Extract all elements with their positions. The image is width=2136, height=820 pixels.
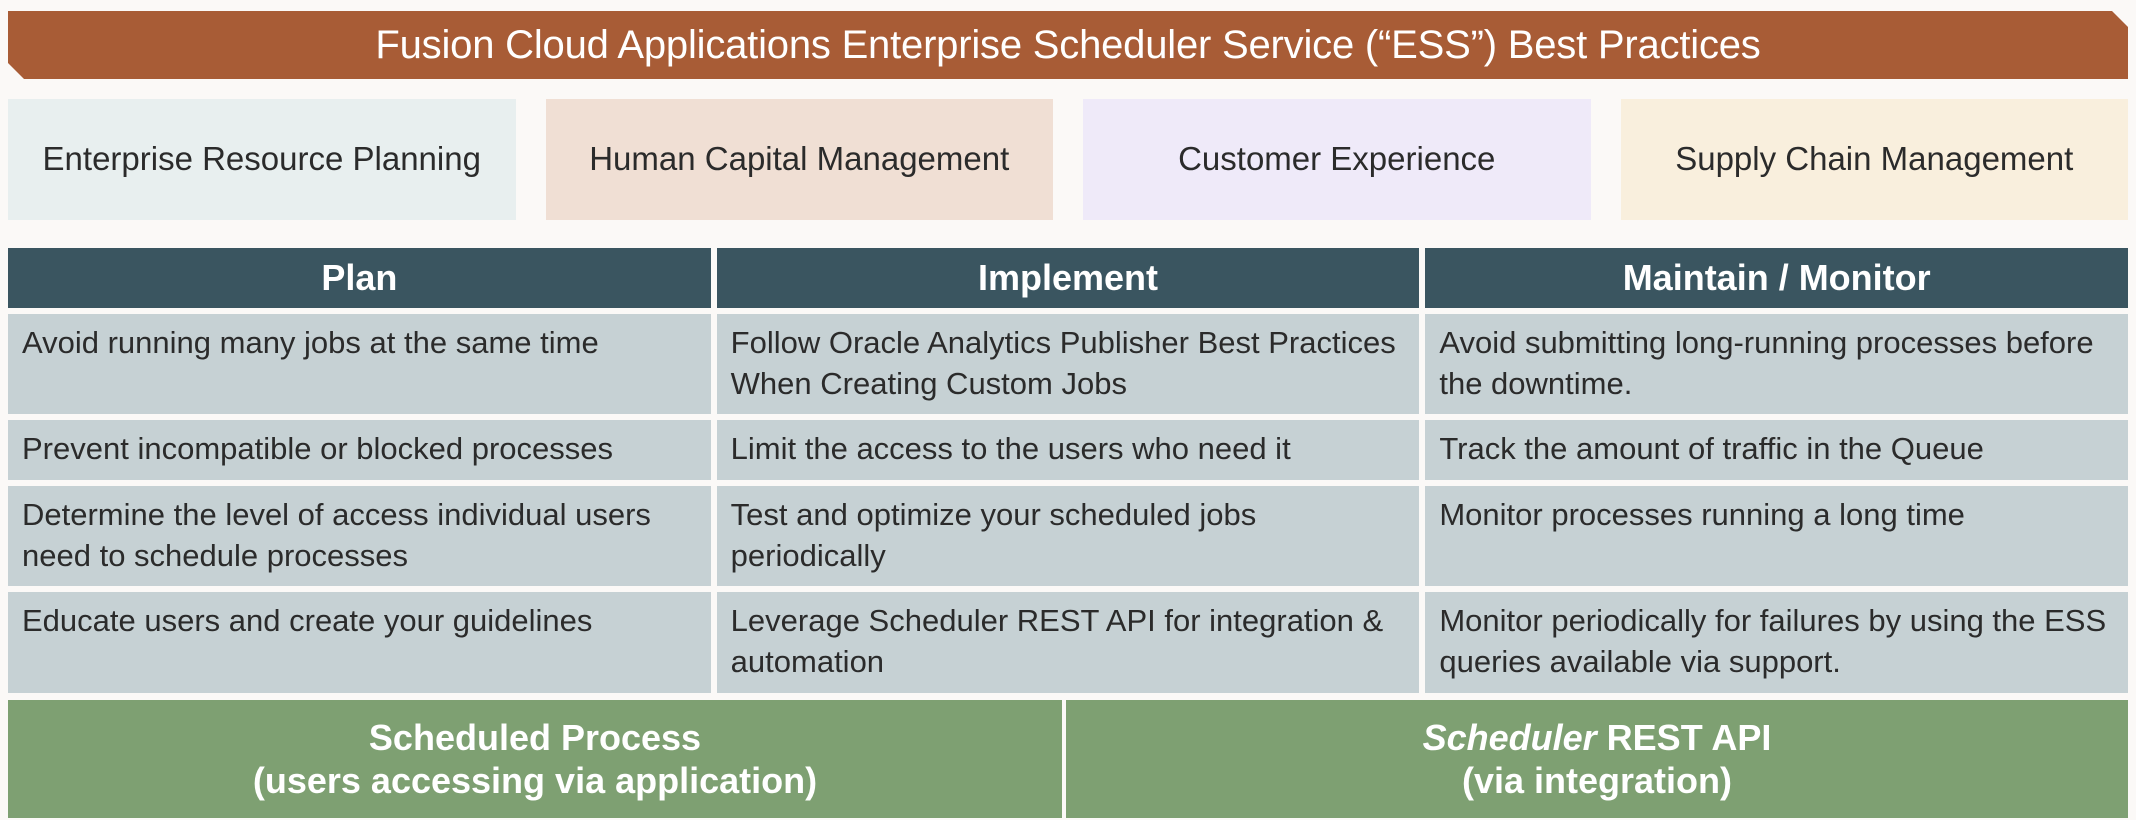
footer-subtitle: (via integration) bbox=[1462, 759, 1732, 802]
table-cell: Monitor periodically for failures by usi… bbox=[1425, 592, 2128, 692]
category-label: Customer Experience bbox=[1178, 139, 1495, 179]
category-strip: Enterprise Resource Planning Human Capit… bbox=[8, 99, 2128, 220]
best-practices-table: Plan Implement Maintain / Monitor Avoid … bbox=[8, 248, 2128, 693]
footer-title-italic-part: Scheduler bbox=[1423, 717, 1597, 758]
access-method-footer: Scheduled Process (users accessing via a… bbox=[8, 700, 2128, 818]
table-cell: Prevent incompatible or blocked processe… bbox=[8, 420, 711, 479]
column-header-maintain-monitor: Maintain / Monitor bbox=[1425, 248, 2128, 308]
table-row: Avoid running many jobs at the same time… bbox=[8, 314, 2128, 414]
table-cell: Avoid running many jobs at the same time bbox=[8, 314, 711, 414]
category-box-cx[interactable]: Customer Experience bbox=[1083, 99, 1591, 220]
footer-title-rest-part: REST API bbox=[1597, 717, 1772, 758]
column-header-plan: Plan bbox=[8, 248, 711, 308]
page-title-banner: Fusion Cloud Applications Enterprise Sch… bbox=[8, 11, 2128, 79]
footer-cell-scheduler-rest-api[interactable]: Scheduler REST API (via integration) bbox=[1066, 700, 2128, 818]
page-title: Fusion Cloud Applications Enterprise Sch… bbox=[375, 24, 1760, 66]
banner-shape: Fusion Cloud Applications Enterprise Sch… bbox=[8, 11, 2128, 79]
table-header-row: Plan Implement Maintain / Monitor bbox=[8, 248, 2128, 308]
category-label: Human Capital Management bbox=[589, 139, 1009, 179]
footer-cell-scheduled-process[interactable]: Scheduled Process (users accessing via a… bbox=[8, 700, 1062, 818]
table-cell: Monitor processes running a long time bbox=[1425, 486, 2128, 586]
table-cell: Avoid submitting long-running processes … bbox=[1425, 314, 2128, 414]
table-row: Prevent incompatible or blocked processe… bbox=[8, 420, 2128, 479]
table-cell: Limit the access to the users who need i… bbox=[717, 420, 1420, 479]
column-header-implement: Implement bbox=[717, 248, 1420, 308]
table-cell: Test and optimize your scheduled jobs pe… bbox=[717, 486, 1420, 586]
footer-title: Scheduled Process bbox=[369, 716, 701, 759]
category-label: Enterprise Resource Planning bbox=[43, 139, 481, 179]
table-cell: Follow Oracle Analytics Publisher Best P… bbox=[717, 314, 1420, 414]
category-box-erp[interactable]: Enterprise Resource Planning bbox=[8, 99, 516, 220]
category-label: Supply Chain Management bbox=[1675, 139, 2073, 179]
category-box-hcm[interactable]: Human Capital Management bbox=[546, 99, 1054, 220]
table-row: Determine the level of access individual… bbox=[8, 486, 2128, 586]
table-cell: Educate users and create your guidelines bbox=[8, 592, 711, 692]
footer-title: Scheduler REST API bbox=[1423, 716, 1772, 759]
table-cell: Determine the level of access individual… bbox=[8, 486, 711, 586]
table-cell: Leverage Scheduler REST API for integrat… bbox=[717, 592, 1420, 692]
footer-subtitle: (users accessing via application) bbox=[253, 759, 817, 802]
category-box-scm[interactable]: Supply Chain Management bbox=[1621, 99, 2129, 220]
table-row: Educate users and create your guidelines… bbox=[8, 592, 2128, 692]
table-cell: Track the amount of traffic in the Queue bbox=[1425, 420, 2128, 479]
